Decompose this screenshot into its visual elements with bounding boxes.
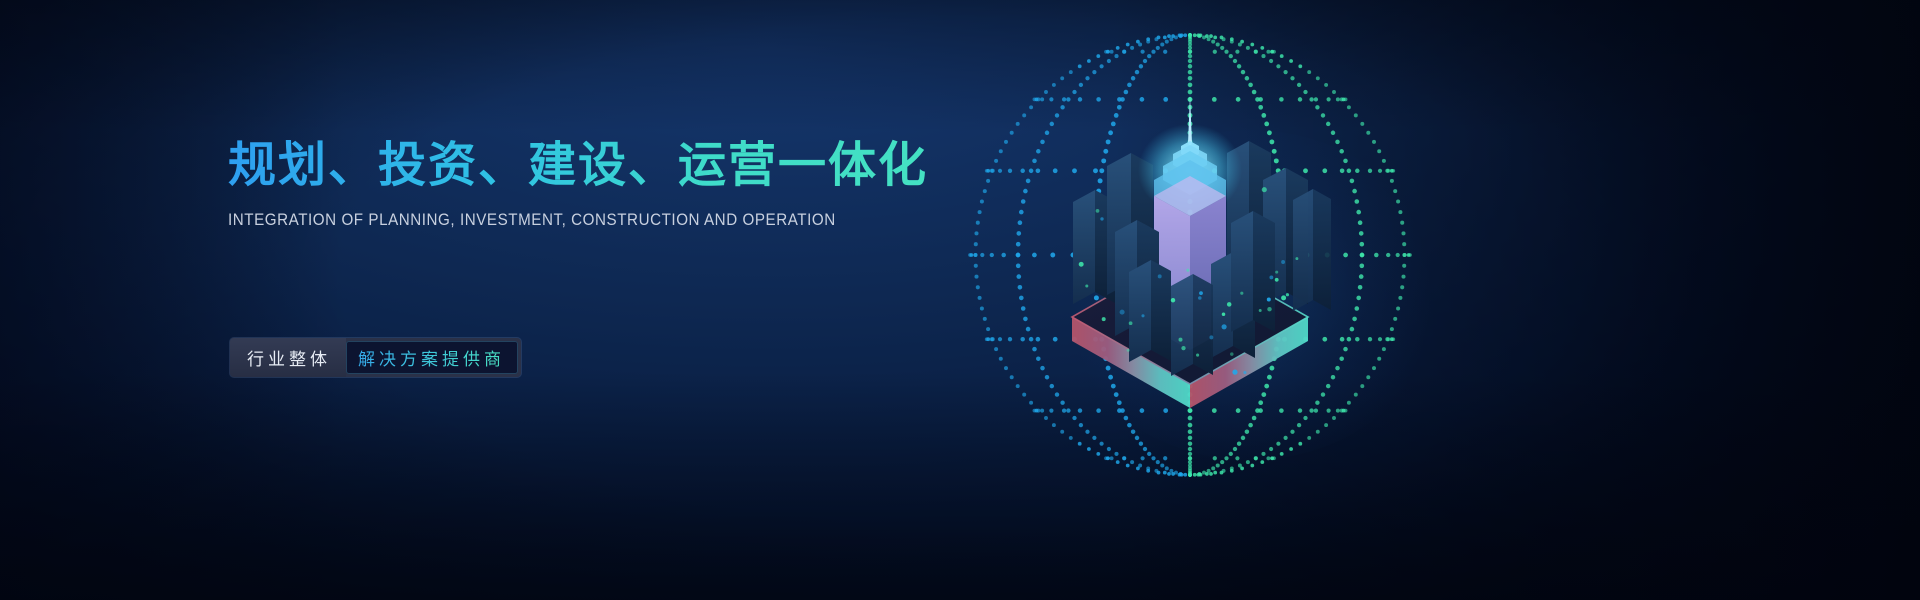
badge-right-panel: 解决方案提供商 xyxy=(346,341,518,374)
hero-banner: 规划、投资、建设、运营一体化 INTEGRATION OF PLANNING, … xyxy=(0,0,1920,600)
smart-city-globe-illustration xyxy=(955,20,1425,490)
page-subtitle: INTEGRATION OF PLANNING, INVESTMENT, CON… xyxy=(228,211,946,230)
badge-left-label: 行业整体 xyxy=(230,338,346,377)
badge-right-label: 解决方案提供商 xyxy=(358,345,505,370)
tagline-badge[interactable]: 行业整体 解决方案提供商 xyxy=(230,338,521,377)
page-title: 规划、投资、建设、运营一体化 xyxy=(228,138,1008,195)
hero-text-block: 规划、投资、建设、运营一体化 INTEGRATION OF PLANNING, … xyxy=(228,138,1008,230)
